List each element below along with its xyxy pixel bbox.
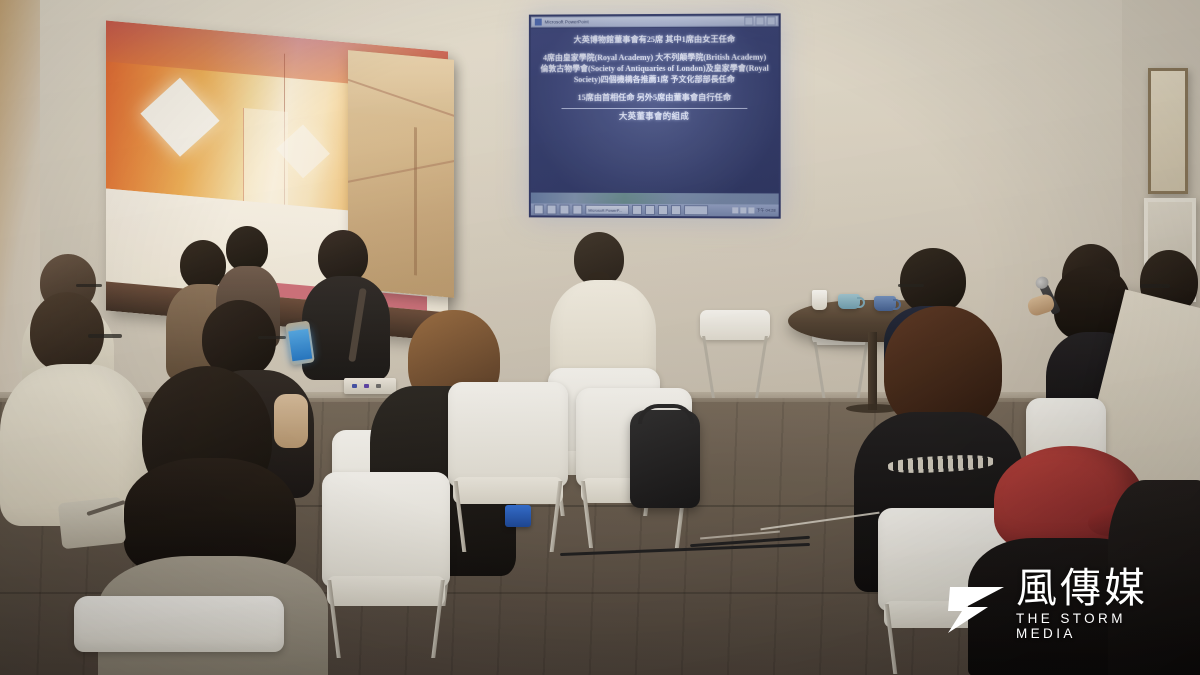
quicklaunch-icon[interactable] [547,205,557,215]
glasses-icon [1140,284,1170,288]
powerpoint-title-bar: Microsoft PowerPoint [531,15,779,27]
backpack-strap [638,404,694,424]
taskbar-item-powerpoint[interactable]: Microsoft PowerP... [585,205,629,215]
phone-screen [288,329,312,361]
stool-seat [700,310,770,340]
taskbar-item-label: Microsoft PowerP... [588,207,622,212]
stool-leg [813,342,825,398]
window-title: Microsoft PowerPoint [545,19,589,24]
chair-back [448,382,568,487]
windows-taskbar[interactable]: Microsoft PowerP... 下午 04:28 [531,203,779,216]
slide-divider [562,108,747,109]
projection-screen: Microsoft PowerPoint 大英博物館董事會有25席 其中1席由女… [529,13,781,218]
taskbar-item[interactable] [632,205,642,215]
stool [700,310,770,398]
painting-diagonal-line [348,157,454,185]
powerpoint-icon [535,19,542,26]
torso [1108,480,1200,675]
chair-back [322,472,450,587]
painting-post-line [414,128,417,276]
taskbar-item[interactable] [684,205,708,215]
glasses-icon [258,336,286,339]
taskbar-clock: 下午 04:28 [756,207,775,213]
maximize-icon[interactable] [755,16,764,25]
tray-icon[interactable] [748,207,754,213]
system-tray[interactable]: 下午 04:28 [732,207,776,213]
tray-icon[interactable] [740,207,746,213]
minimize-icon[interactable] [744,17,753,26]
photo-scene: Microsoft PowerPoint 大英博物館董事會有25席 其中1席由女… [0,0,1200,675]
framed-artwork-upper [1148,68,1188,194]
quicklaunch-icon[interactable] [572,205,582,215]
stool-leg [702,336,715,398]
taskbar-item[interactable] [645,205,655,215]
paper-cup [812,290,827,310]
window-controls[interactable] [744,16,777,25]
slide-title: 大英董事會的組成 [539,112,771,123]
head [30,292,104,372]
slide-paragraph: 4席由皇家學院(Royal Academy) 大不列顛學院(British Ac… [539,52,771,86]
chair-back [74,596,284,652]
blue-floor-item [505,505,531,527]
slide-content: 大英博物館董事會有25席 其中1席由女王任命 4席由皇家學院(Royal Aca… [531,27,779,192]
quicklaunch-icon[interactable] [560,205,570,215]
slide-line-3: 15席由首相任命 另外5席由董事會自行任命 [539,93,771,104]
torso [302,276,390,380]
led-indicator [352,384,357,388]
head [900,248,966,314]
taskbar-item[interactable] [658,205,668,215]
chair-seat [327,576,445,606]
person-woman-shoulder-bag [302,230,390,380]
close-icon[interactable] [767,16,776,25]
led-indicator [364,384,369,388]
person-bottom-right [1108,480,1200,675]
chair-seat [453,477,563,504]
start-button[interactable] [534,204,544,214]
chair [74,596,284,675]
taskbar-item[interactable] [671,205,681,215]
slide-line-1: 大英博物館董事會有25席 其中1席由女王任命 [539,34,771,46]
glasses-icon [88,334,122,338]
glasses-icon [76,284,102,287]
tray-icon[interactable] [732,207,738,213]
chair [322,472,450,658]
backpack [630,410,700,508]
glasses-icon [898,284,924,287]
stool-leg [755,336,768,398]
